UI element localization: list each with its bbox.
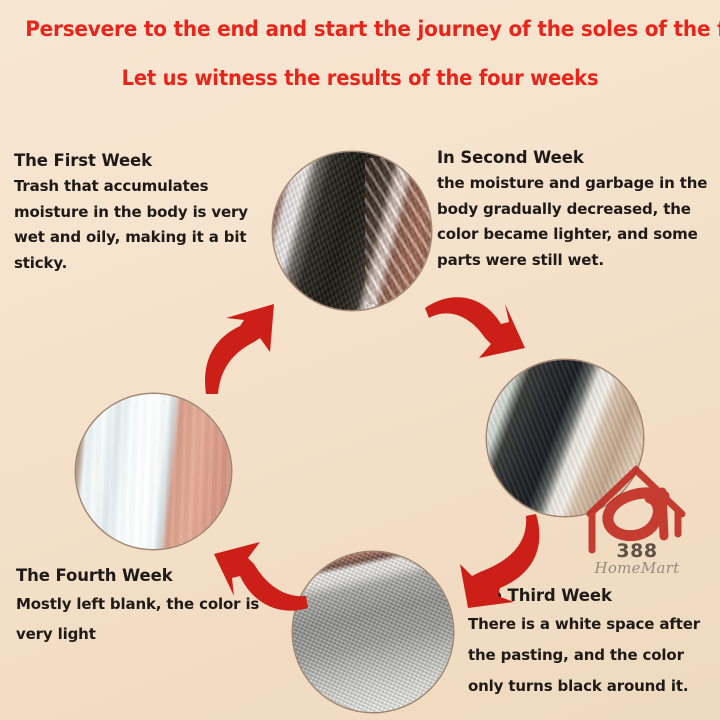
arrow-up-right-icon: [196, 296, 304, 396]
watermark-brand: HomeMart: [578, 559, 696, 577]
week-1-photo: [273, 152, 431, 310]
week-1-text-block: The First Week Trash that accumulates mo…: [14, 150, 266, 276]
week-4-photo: [76, 394, 231, 549]
week-3-photo-texture: [293, 552, 453, 712]
week-4-body: Mostly left blank, the color is very lig…: [16, 589, 276, 649]
headline-secondary: Let us witness the results of the four w…: [25, 66, 695, 90]
week-4-photo-texture: [76, 394, 231, 549]
week-1-body: Trash that accumulates moisture in the b…: [14, 174, 266, 276]
week-3-photo: [293, 552, 453, 712]
week-3-text-block: The Third Week There is a white space af…: [468, 585, 720, 702]
week-3-title: The Third Week: [468, 585, 720, 607]
week-1-photo-highlight: [365, 158, 431, 303]
week-4-text-block: The Fourth Week Mostly left blank, the c…: [16, 565, 276, 649]
week-2-text-block: In Second Week the moisture and garbage …: [437, 147, 720, 273]
headline-primary: Persevere to the end and start the journ…: [25, 17, 695, 42]
watermark-logo: 388 HomeMart: [578, 462, 696, 580]
week-2-title: In Second Week: [437, 147, 720, 169]
week-1-title: The First Week: [14, 150, 266, 172]
poster-canvas: Persevere to the end and start the journ…: [0, 0, 720, 720]
week-2-body: the moisture and garbage in the body gra…: [437, 171, 720, 273]
week-3-body: There is a white space after the pasting…: [468, 609, 720, 702]
week-4-title: The Fourth Week: [16, 565, 276, 587]
